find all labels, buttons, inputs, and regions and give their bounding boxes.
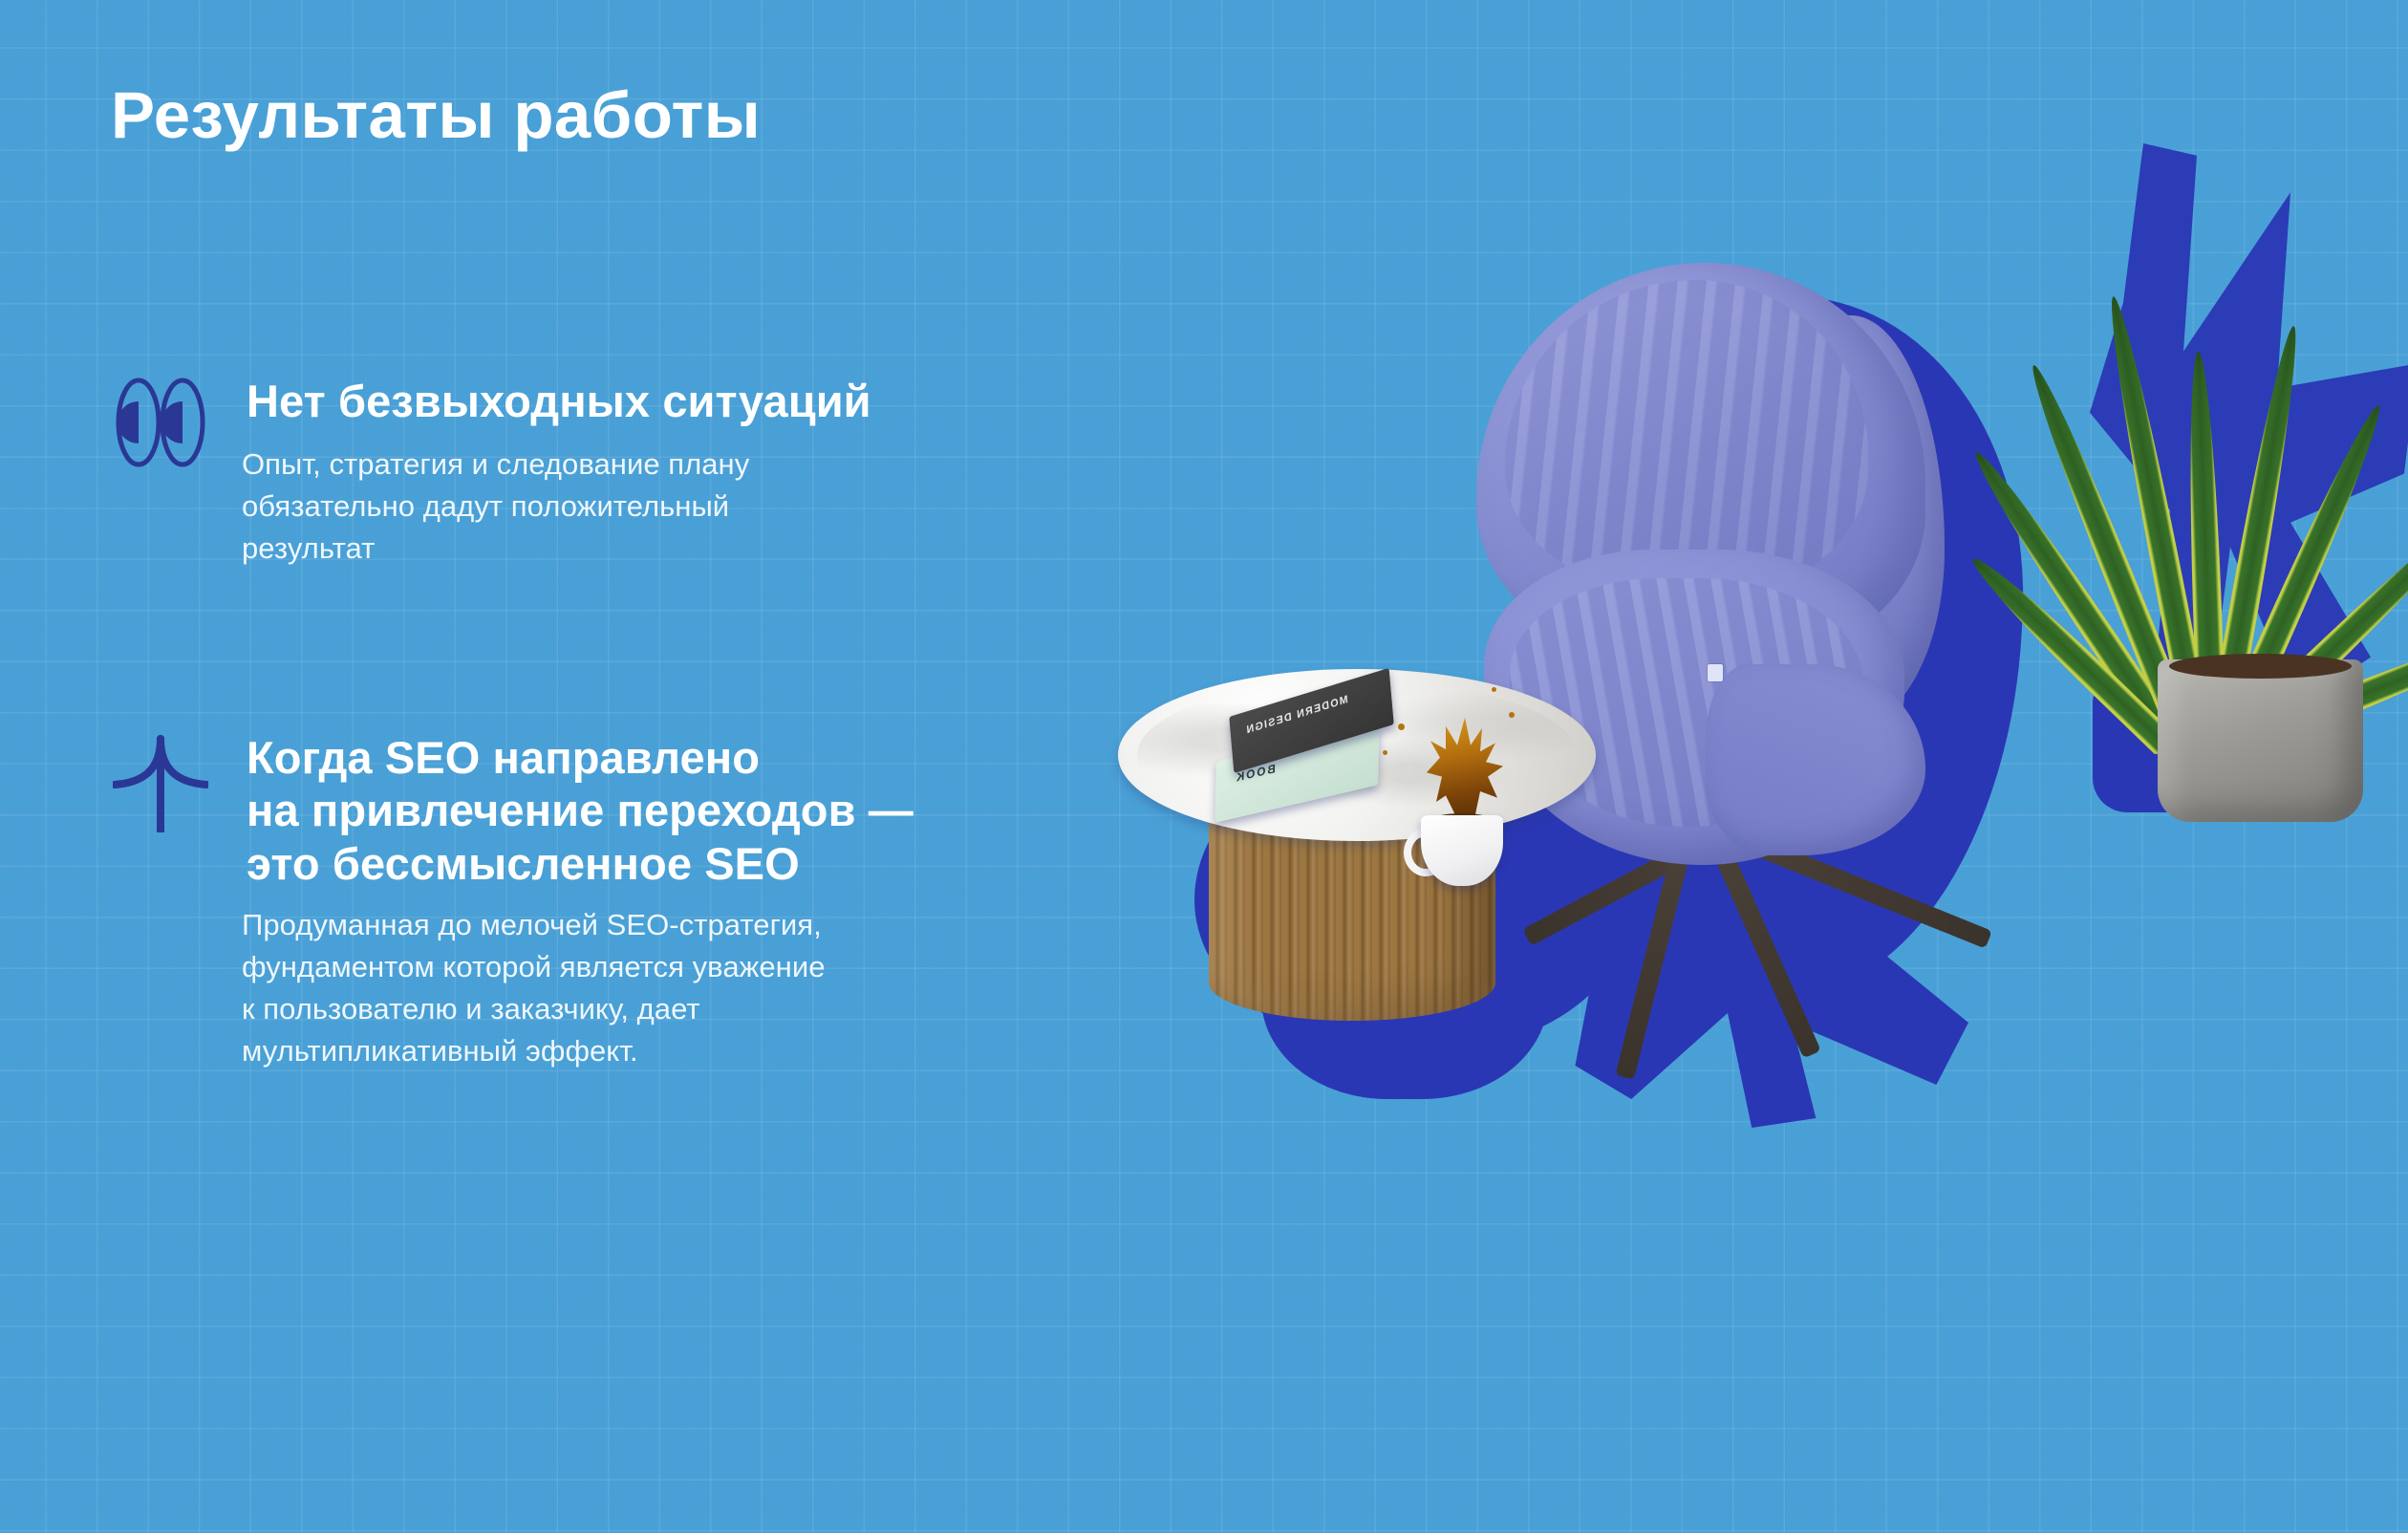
coffee-droplet [1398, 723, 1405, 730]
result-block-1-heading: Нет безвыходных ситуаций [247, 375, 1259, 427]
illustration-collage: BOOK MODERN DESIGN [1223, 105, 2408, 1443]
result-block-1-body: Опыт, стратегия и следование плану обяза… [242, 443, 1259, 570]
coffee-droplet [1509, 712, 1515, 718]
snake-plant [2045, 134, 2408, 822]
coffee-droplet [1383, 750, 1387, 755]
result-block-1: Нет безвыходных ситуаций Опыт, стратегия… [113, 375, 1259, 571]
cup-body [1421, 815, 1503, 886]
up-arrow-icon [113, 731, 208, 836]
plant-pot [2158, 659, 2363, 822]
result-block-1-heading-wrap: Нет безвыходных ситуаций [247, 375, 1259, 427]
page-title: Результаты работы [111, 82, 761, 148]
coffee-cup [1409, 779, 1515, 894]
chair-fabric-tag [1708, 664, 1723, 681]
slide-canvas: Результаты работы Нет безвыходных ситуац… [0, 0, 2408, 1533]
coffee-table: BOOK MODERN DESIGN [1118, 669, 1615, 1109]
coffee-droplet [1492, 687, 1496, 692]
eyes-icon [113, 375, 208, 470]
